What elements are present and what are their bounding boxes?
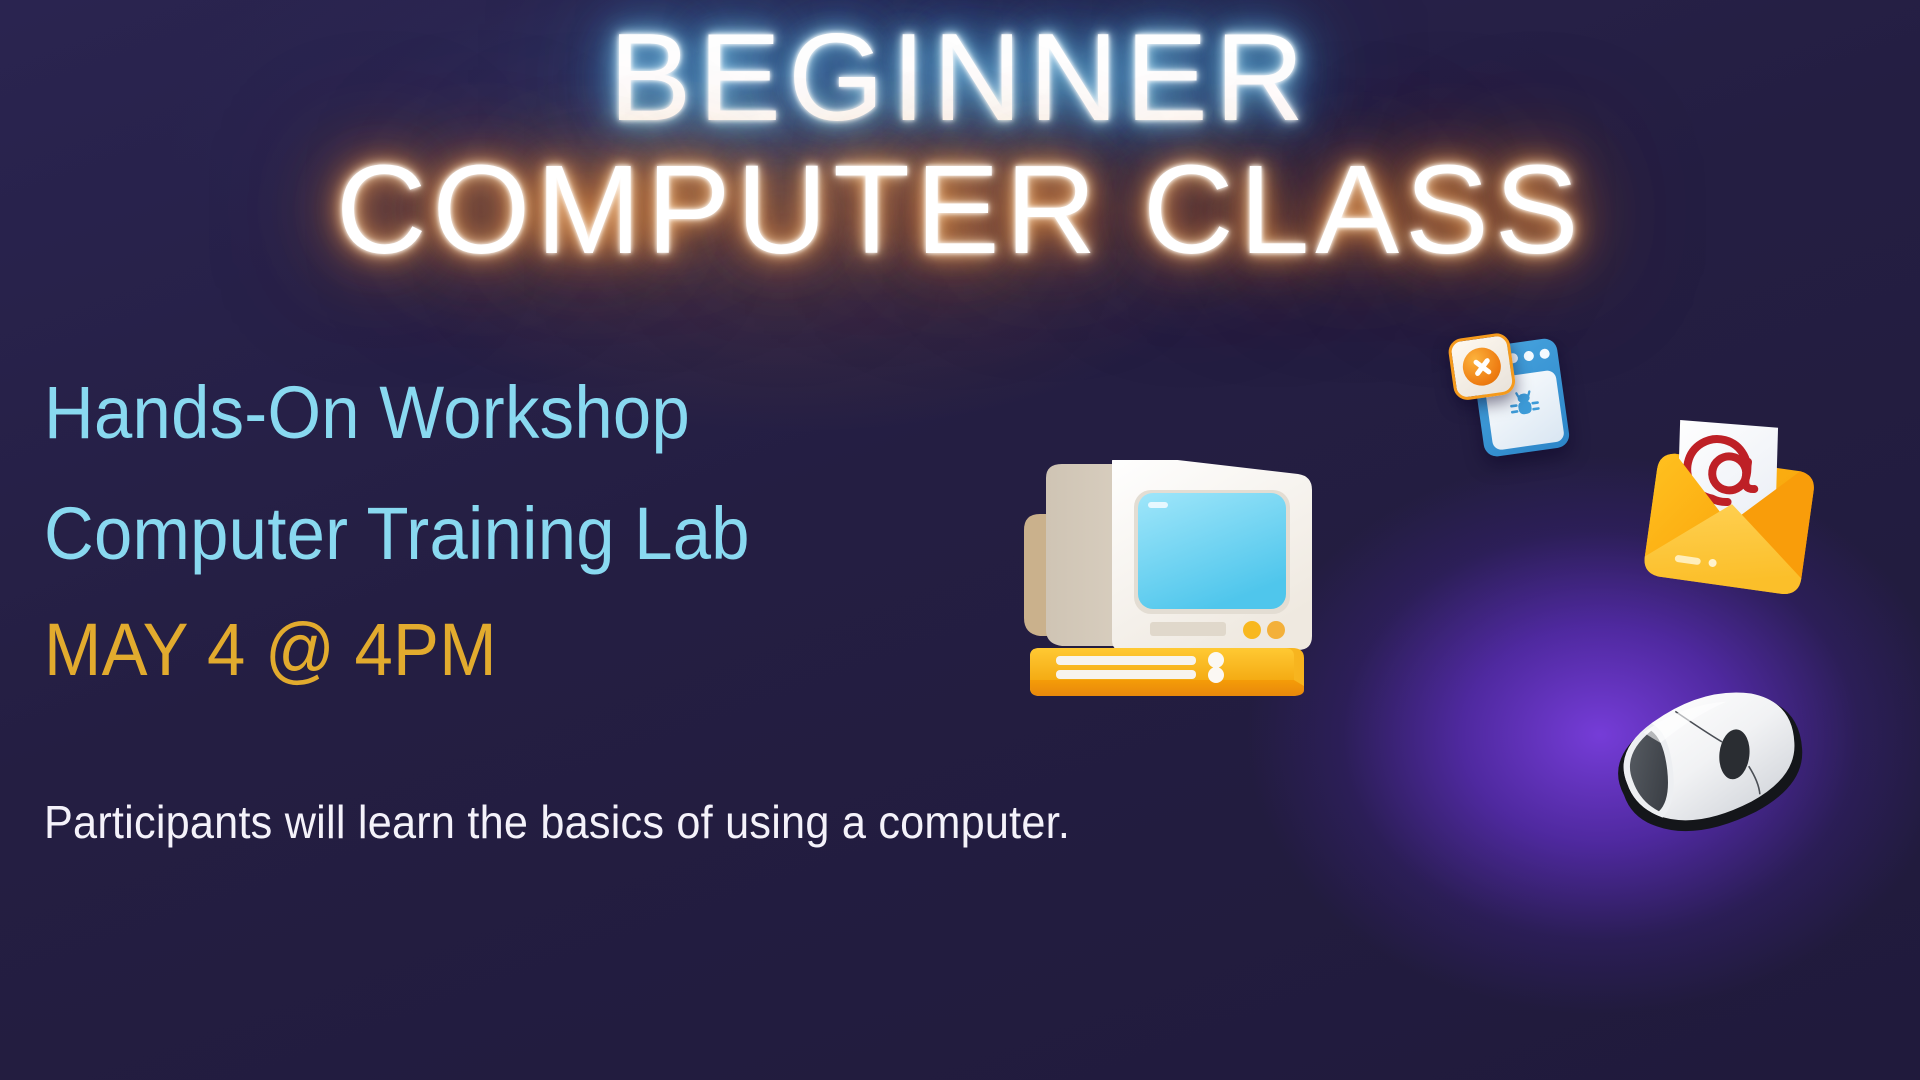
computer-mouse-icon [1584,656,1831,863]
window-dot-3 [1539,348,1550,359]
detail-line-workshop: Hands-On Workshop [44,376,974,450]
headline-line-2: COMPUTER CLASS [0,148,1920,271]
illustration-cluster [1000,290,1920,1080]
poster-canvas: BEGINNER COMPUTER CLASS Hands-On Worksho… [0,0,1920,1080]
error-badge-icon [1447,332,1517,402]
window-dot-2 [1523,350,1534,361]
detail-line-location: Computer Training Lab [44,497,974,571]
poster-footnote: Participants will learn the basics of us… [44,795,1070,849]
email-envelope-icon [1626,406,1836,616]
detail-line-datetime: MAY 4 @ 4PM [44,613,974,687]
retro-computer-icon [1020,460,1320,700]
details-block: Hands-On Workshop Computer Training Lab … [44,376,1044,687]
bug-icon [1507,388,1543,422]
poster-headline: BEGINNER COMPUTER CLASS [0,18,1920,271]
bug-window-group [1447,325,1573,464]
headline-line-1: BEGINNER [0,18,1920,140]
error-x-circle [1460,345,1503,388]
